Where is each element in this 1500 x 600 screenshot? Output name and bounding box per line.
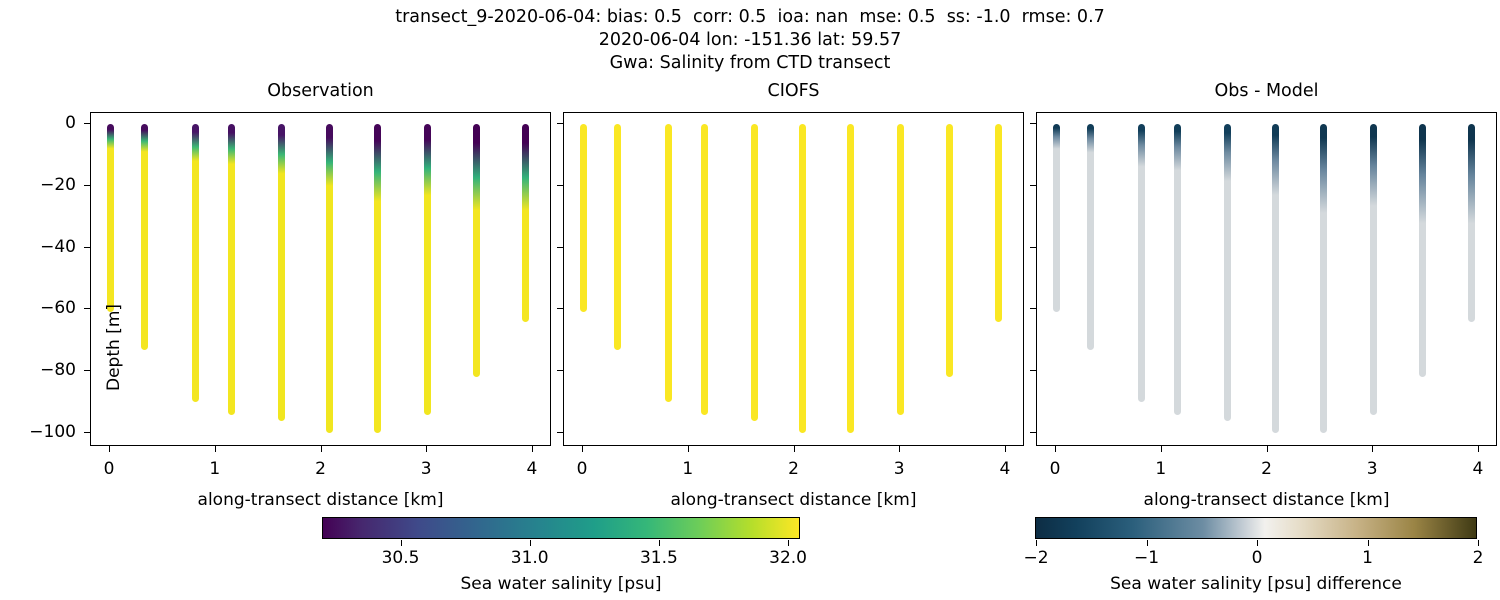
colorbar-salinity: Sea water salinity [psu] 30.531.031.532.…: [322, 517, 800, 539]
cast-profile-obs-model: [1468, 124, 1475, 322]
x-tick-label: 1: [195, 459, 235, 479]
y-tick: [557, 247, 563, 248]
y-tick: [557, 123, 563, 124]
y-tick: [84, 185, 90, 186]
colorbar-label-salinity: Sea water salinity [psu]: [323, 574, 799, 594]
x-tick: [688, 446, 689, 452]
cast-profile-ciofs: [751, 124, 758, 421]
cast-profile-observation: [374, 124, 381, 433]
cast-profile-observation: [278, 124, 285, 421]
x-tick: [215, 446, 216, 452]
y-tick-label: −100: [29, 422, 76, 442]
suptitle-line-3: Gwa: Salinity from CTD transect: [0, 52, 1500, 75]
cast-profile-obs-model: [1174, 124, 1181, 415]
x-tick-label: 4: [1458, 459, 1498, 479]
x-tick-label: 3: [406, 459, 446, 479]
colorbar-tick: [530, 540, 531, 546]
x-tick: [1161, 446, 1162, 452]
x-tick-label: 3: [879, 459, 919, 479]
axes-ciofs: [563, 112, 1024, 446]
cast-profile-ciofs: [580, 124, 587, 313]
colorbar-tick-label: −1: [1112, 548, 1182, 568]
panel-title-ciofs: CIOFS: [563, 81, 1024, 101]
cast-profile-observation: [141, 124, 148, 350]
colorbar-tick: [1147, 540, 1148, 546]
x-tick: [321, 446, 322, 452]
y-tick-label: 0: [65, 113, 76, 133]
cast-profile-obs-model: [1272, 124, 1279, 433]
colorbar-tick-label: 1: [1333, 548, 1403, 568]
cast-profile-observation: [228, 124, 235, 415]
x-tick: [1372, 446, 1373, 452]
y-tick-label: −60: [40, 298, 76, 318]
y-tick: [1030, 432, 1036, 433]
x-tick: [1267, 446, 1268, 452]
cast-profile-observation: [522, 124, 529, 322]
cast-profile-obs-model: [1224, 124, 1231, 421]
y-tick: [84, 432, 90, 433]
x-tick: [532, 446, 533, 452]
cast-profile-ciofs: [799, 124, 806, 433]
y-tick-label: −20: [40, 175, 76, 195]
colorbar-tick: [1036, 540, 1037, 546]
cast-profile-ciofs: [701, 124, 708, 415]
x-tick-label: 0: [562, 459, 602, 479]
figure-suptitle: transect_9-2020-06-04: bias: 0.5 corr: 0…: [0, 6, 1500, 75]
x-tick: [1478, 446, 1479, 452]
cast-profile-obs-model: [1138, 124, 1145, 402]
axes-obs-model: [1036, 112, 1497, 446]
panel-title-observation: Observation: [90, 81, 551, 101]
x-tick: [899, 446, 900, 452]
x-tick: [426, 446, 427, 452]
cast-profile-obs-model: [1087, 124, 1094, 350]
colorbar-tick: [659, 540, 660, 546]
x-axis-title-observation: along-transect distance [km]: [90, 490, 551, 510]
colorbar-tick-label: 31.0: [495, 548, 565, 568]
y-tick: [557, 432, 563, 433]
x-tick: [794, 446, 795, 452]
y-tick: [1030, 247, 1036, 248]
y-tick-label: −40: [40, 237, 76, 257]
x-tick-label: 2: [1247, 459, 1287, 479]
cast-profile-observation: [473, 124, 480, 378]
x-tick: [1005, 446, 1006, 452]
colorbar-tick: [1478, 540, 1479, 546]
y-axis-title: Depth [m]: [104, 304, 124, 391]
y-tick: [557, 370, 563, 371]
x-tick-label: 2: [301, 459, 341, 479]
y-tick: [84, 370, 90, 371]
x-tick-label: 2: [774, 459, 814, 479]
cast-profile-ciofs: [614, 124, 621, 350]
x-tick-label: 3: [1352, 459, 1392, 479]
y-tick: [84, 123, 90, 124]
cast-profile-ciofs: [665, 124, 672, 402]
x-tick-label: 1: [668, 459, 708, 479]
colorbar-tick-label: −2: [1001, 548, 1071, 568]
colorbar-tick-label: 0: [1222, 548, 1292, 568]
colorbar-tick: [1368, 540, 1369, 546]
cast-profile-ciofs: [946, 124, 953, 378]
colorbar-label-salinity-difference: Sea water salinity [psu] difference: [1036, 574, 1476, 594]
x-axis-title-obs-model: along-transect distance [km]: [1036, 490, 1497, 510]
cast-profile-obs-model: [1419, 124, 1426, 378]
cast-profile-observation: [192, 124, 199, 402]
y-tick: [1030, 123, 1036, 124]
colorbar-tick-label: 32.0: [753, 548, 823, 568]
y-tick: [557, 185, 563, 186]
y-tick: [1030, 308, 1036, 309]
x-tick-label: 0: [89, 459, 129, 479]
panel-observation: Observation Depth [m] along-transect dis…: [90, 112, 551, 446]
x-tick-label: 1: [1141, 459, 1181, 479]
x-tick-label: 4: [512, 459, 552, 479]
y-tick: [1030, 370, 1036, 371]
y-tick: [84, 247, 90, 248]
colorbar-tick: [788, 540, 789, 546]
axes-observation: [90, 112, 551, 446]
x-tick: [109, 446, 110, 452]
y-tick: [84, 308, 90, 309]
suptitle-line-2: 2020-06-04 lon: -151.36 lat: 59.57: [0, 29, 1500, 52]
cast-profile-observation: [107, 124, 114, 313]
panel-title-obs-model: Obs - Model: [1036, 81, 1497, 101]
colorbar-tick: [401, 540, 402, 546]
cast-profile-ciofs: [847, 124, 854, 433]
colorbar-salinity-difference: Sea water salinity [psu] difference −2−1…: [1035, 517, 1477, 539]
y-tick: [1030, 185, 1036, 186]
colorbar-tick-label: 31.5: [624, 548, 694, 568]
suptitle-line-1: transect_9-2020-06-04: bias: 0.5 corr: 0…: [0, 6, 1500, 29]
panel-obs-model: Obs - Model along-transect distance [km]…: [1036, 112, 1497, 446]
x-tick-label: 0: [1035, 459, 1075, 479]
x-tick-label: 4: [985, 459, 1025, 479]
panel-ciofs: CIOFS along-transect distance [km] 01234: [563, 112, 1024, 446]
colorbar-tick: [1257, 540, 1258, 546]
y-tick-label: −80: [40, 360, 76, 380]
x-tick: [1055, 446, 1056, 452]
cast-profile-obs-model: [1320, 124, 1327, 433]
cast-profile-observation: [424, 124, 431, 415]
y-tick: [557, 308, 563, 309]
colorbar-tick-label: 2: [1443, 548, 1500, 568]
cast-profile-ciofs: [995, 124, 1002, 322]
figure: transect_9-2020-06-04: bias: 0.5 corr: 0…: [0, 0, 1500, 600]
colorbar-tick-label: 30.5: [366, 548, 436, 568]
x-tick: [582, 446, 583, 452]
cast-profile-ciofs: [897, 124, 904, 415]
x-axis-title-ciofs: along-transect distance [km]: [563, 490, 1024, 510]
cast-profile-observation: [326, 124, 333, 433]
cast-profile-obs-model: [1370, 124, 1377, 415]
cast-profile-obs-model: [1053, 124, 1060, 313]
